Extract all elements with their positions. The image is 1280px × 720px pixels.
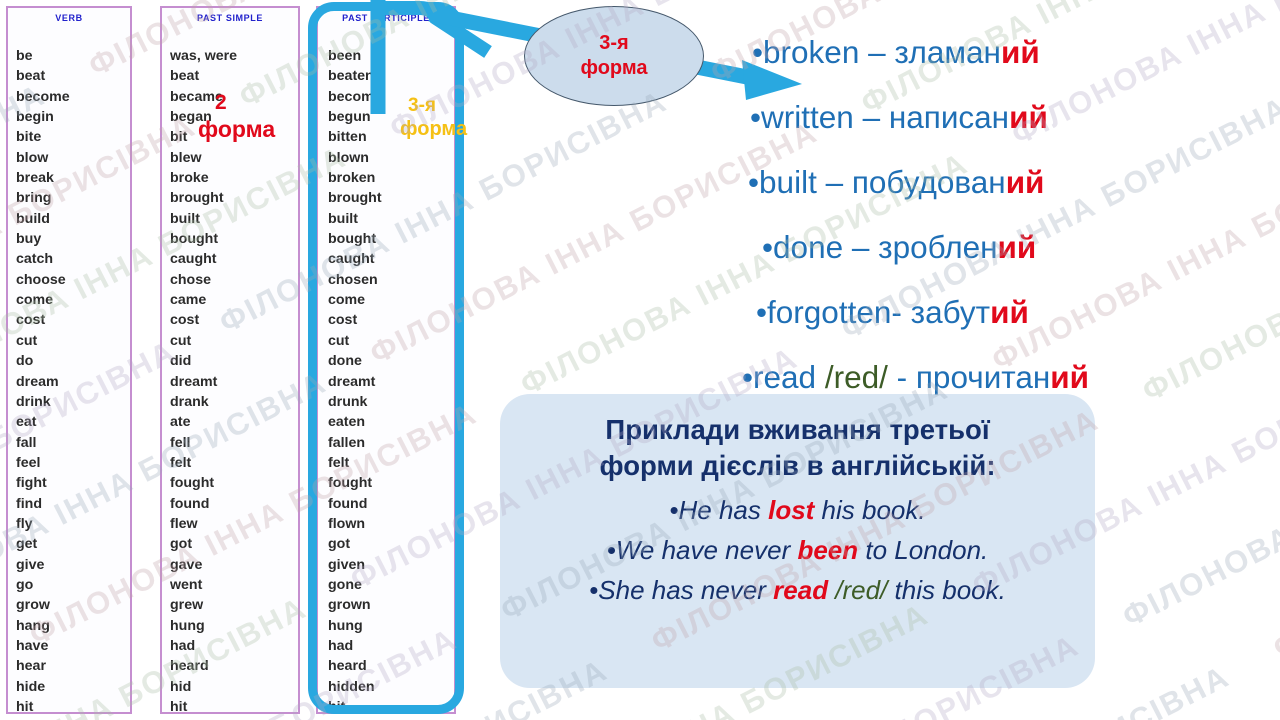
translation-dash: – bbox=[854, 99, 889, 135]
translation-stem: побудован bbox=[852, 164, 1006, 200]
list-item: hung bbox=[170, 616, 298, 636]
list-item: bought bbox=[170, 229, 298, 249]
translation-row: •broken – зламаний bbox=[752, 20, 1280, 85]
translation-stem: написан bbox=[889, 99, 1009, 135]
translation-row: •forgotten- забутий bbox=[756, 280, 1280, 345]
list-item: have bbox=[16, 636, 130, 656]
translation-english: written bbox=[761, 99, 854, 135]
list-item: fell bbox=[170, 433, 298, 453]
list-item: give bbox=[16, 555, 130, 575]
list-item: hit bbox=[16, 697, 130, 717]
examples-box: Приклади вживання третьої форми дієслів … bbox=[500, 394, 1095, 688]
translation-dash: – bbox=[817, 164, 852, 200]
list-item: do bbox=[16, 351, 130, 371]
list-item: hear bbox=[16, 656, 130, 676]
list-item: fought bbox=[170, 473, 298, 493]
list-item: grow bbox=[16, 595, 130, 615]
translation-ending: ий bbox=[990, 294, 1029, 330]
bullet-icon: • bbox=[752, 34, 763, 70]
translation-list: •broken – зламаний •written – написаний … bbox=[742, 20, 1280, 410]
slide-canvas: VERB bebeatbecomebeginbiteblowbreakbring… bbox=[0, 0, 1280, 720]
list-item: feel bbox=[16, 453, 130, 473]
list-item: hid bbox=[170, 677, 298, 697]
label-third-form-word: форма bbox=[400, 119, 467, 139]
translation-row: •built – побудований bbox=[748, 150, 1280, 215]
bullet-icon: • bbox=[750, 99, 761, 135]
list-item: cut bbox=[170, 331, 298, 351]
example-sentence: •We have never been to London. bbox=[514, 530, 1081, 570]
list-item: cost bbox=[170, 310, 298, 330]
bullet-icon: • bbox=[762, 229, 773, 265]
verb-list: bebeatbecomebeginbiteblowbreakbringbuild… bbox=[8, 45, 130, 720]
example-highlight: read bbox=[773, 575, 828, 605]
callout-oval-line2: форма bbox=[580, 56, 647, 81]
translation-ending: ий bbox=[1009, 99, 1048, 135]
list-item: grew bbox=[170, 595, 298, 615]
list-item: eat bbox=[16, 412, 130, 432]
list-item: brought bbox=[170, 188, 298, 208]
example-sentence: •He has lost his book. bbox=[514, 490, 1081, 530]
translation-transcription: /red/ bbox=[816, 359, 888, 395]
list-item: fly bbox=[16, 514, 130, 534]
examples-title-line2: форми дієслів в англійській: bbox=[514, 448, 1081, 484]
list-item: catch bbox=[16, 249, 130, 269]
list-item: broke bbox=[170, 168, 298, 188]
list-item: find bbox=[16, 494, 130, 514]
translation-ending: ий bbox=[998, 229, 1037, 265]
translation-english: done bbox=[773, 229, 843, 265]
list-item: break bbox=[16, 168, 130, 188]
translation-english: built bbox=[759, 164, 817, 200]
example-before: We have never bbox=[616, 535, 798, 565]
example-transcription: /red/ bbox=[828, 575, 887, 605]
list-item: felt bbox=[170, 453, 298, 473]
translation-stem: зроблен bbox=[878, 229, 997, 265]
list-item: hide bbox=[16, 677, 130, 697]
list-item: cost bbox=[16, 310, 130, 330]
past-simple-list: was, werebeatbecamebeganbitblewbrokebrou… bbox=[162, 45, 298, 720]
translation-dash: – bbox=[859, 34, 894, 70]
examples-title-line1: Приклади вживання третьої bbox=[514, 412, 1081, 448]
translation-stem: зламан bbox=[894, 34, 1001, 70]
list-item: beat bbox=[170, 66, 298, 86]
list-item: cut bbox=[16, 331, 130, 351]
translation-row: •read /red/ - прочитаний bbox=[742, 345, 1280, 410]
list-item: dreamt bbox=[170, 372, 298, 392]
translation-row: •written – написаний bbox=[750, 85, 1280, 150]
example-highlight: lost bbox=[768, 495, 814, 525]
translation-dash: - bbox=[891, 294, 910, 330]
bullet-icon: • bbox=[607, 535, 616, 565]
list-item: had bbox=[170, 636, 298, 656]
list-item: gave bbox=[170, 555, 298, 575]
callout-oval-third-form: 3-я форма bbox=[524, 6, 704, 106]
list-item: buy bbox=[16, 229, 130, 249]
translation-english: broken bbox=[763, 34, 859, 70]
example-after: this book. bbox=[887, 575, 1006, 605]
label-second-form: 2 форма bbox=[198, 92, 275, 141]
translation-ending: ий bbox=[1006, 164, 1045, 200]
example-before: She has never bbox=[598, 575, 773, 605]
bullet-icon: • bbox=[756, 294, 767, 330]
list-item: fall bbox=[16, 433, 130, 453]
list-item: caught bbox=[170, 249, 298, 269]
list-item: begin bbox=[16, 107, 130, 127]
example-highlight: been bbox=[797, 535, 858, 565]
list-item: drink bbox=[16, 392, 130, 412]
list-item: hang bbox=[16, 616, 130, 636]
example-after: to London. bbox=[858, 535, 988, 565]
column-header-verb: VERB bbox=[8, 8, 130, 29]
list-item: blow bbox=[16, 148, 130, 168]
list-item: did bbox=[170, 351, 298, 371]
list-item: went bbox=[170, 575, 298, 595]
list-item: bring bbox=[16, 188, 130, 208]
list-item: heard bbox=[170, 656, 298, 676]
column-verb: VERB bebeatbecomebeginbiteblowbreakbring… bbox=[6, 6, 132, 714]
example-before: He has bbox=[678, 495, 768, 525]
label-second-form-word: форма bbox=[198, 118, 275, 141]
list-item: came bbox=[170, 290, 298, 310]
example-sentence: •She has never read /red/ this book. bbox=[514, 570, 1081, 610]
list-item: got bbox=[170, 534, 298, 554]
list-item: hit bbox=[170, 697, 298, 717]
list-item: built bbox=[170, 209, 298, 229]
translation-dash: - bbox=[888, 359, 916, 395]
list-item: blew bbox=[170, 148, 298, 168]
list-item: build bbox=[16, 209, 130, 229]
list-item: bite bbox=[16, 127, 130, 147]
list-item: be bbox=[16, 46, 130, 66]
list-item: flew bbox=[170, 514, 298, 534]
callout-oval-line1: 3-я bbox=[599, 31, 628, 56]
column-header-past-simple: PAST SIMPLE bbox=[162, 8, 298, 29]
bullet-icon: • bbox=[748, 164, 759, 200]
bullet-icon: • bbox=[589, 575, 598, 605]
translation-english: read bbox=[753, 359, 816, 395]
list-item: become bbox=[16, 87, 130, 107]
translation-row: •done – зроблений bbox=[762, 215, 1280, 280]
translation-ending: ий bbox=[1050, 359, 1089, 395]
translation-stem: забут bbox=[911, 294, 991, 330]
translation-dash: – bbox=[843, 229, 878, 265]
list-item: come bbox=[16, 290, 130, 310]
translation-stem: прочитан bbox=[916, 359, 1050, 395]
label-second-form-number: 2 bbox=[215, 92, 275, 113]
bullet-icon: • bbox=[742, 359, 753, 395]
list-item: beat bbox=[16, 66, 130, 86]
list-item: choose bbox=[16, 270, 130, 290]
translation-english: forgotten bbox=[767, 294, 891, 330]
translation-ending: ий bbox=[1001, 34, 1040, 70]
list-item: get bbox=[16, 534, 130, 554]
list-item: chose bbox=[170, 270, 298, 290]
label-third-form-number: 3-я bbox=[408, 96, 467, 115]
list-item: was, were bbox=[170, 46, 298, 66]
list-item: drank bbox=[170, 392, 298, 412]
list-item: go bbox=[16, 575, 130, 595]
list-item: ate bbox=[170, 412, 298, 432]
example-after: his book. bbox=[814, 495, 925, 525]
list-item: dream bbox=[16, 372, 130, 392]
list-item: found bbox=[170, 494, 298, 514]
list-item: fight bbox=[16, 473, 130, 493]
label-third-form: 3-я форма bbox=[400, 96, 467, 139]
